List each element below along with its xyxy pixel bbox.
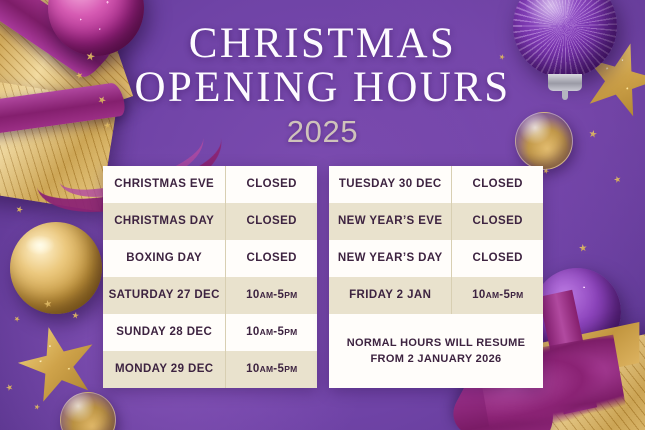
table-cell-day: SUNDAY 28 DEC <box>103 314 226 351</box>
confetti-star-icon <box>13 315 21 323</box>
title-year: 2025 <box>0 114 645 150</box>
table-cell-day: MONDAY 29 DEC <box>103 351 226 388</box>
table-cell-day: NEW YEAR’S DAY <box>329 240 452 277</box>
table-cell-hours: 10AM-5PM <box>226 277 317 314</box>
page-title: CHRISTMAS OPENING HOURS 2025 <box>0 0 645 150</box>
table-cell-hours: CLOSED <box>226 166 317 203</box>
table-row: NEW YEAR’S DAYCLOSED <box>329 240 543 277</box>
christmas-opening-hours-poster: CHRISTMAS OPENING HOURS 2025 CHRISTMAS E… <box>0 0 645 430</box>
note-line-2: FROM 2 JANUARY 2026 <box>371 353 502 366</box>
note-line-1: NORMAL HOURS WILL RESUME <box>347 337 526 350</box>
magenta-ribbon-bottom-right-icon <box>539 290 597 414</box>
confetti-star-icon <box>542 167 550 175</box>
table-row: FRIDAY 2 JAN10AM-5PM <box>329 277 543 314</box>
table-row: CHRISTMAS EVECLOSED <box>103 166 317 203</box>
gold-glitter-star-bottom-left-icon <box>10 317 106 412</box>
table-row: SUNDAY 28 DEC10AM-5PM <box>103 314 317 351</box>
left-hours-table: CHRISTMAS EVECLOSEDCHRISTMAS DAYCLOSEDBO… <box>103 166 317 388</box>
table-cell-hours: CLOSED <box>452 166 543 203</box>
table-cell-hours: CLOSED <box>226 203 317 240</box>
table-cell-hours: 10AM-5PM <box>226 351 317 388</box>
table-cell-hours: 10AM-5PM <box>452 277 543 314</box>
table-cell-day: FRIDAY 2 JAN <box>329 277 452 314</box>
table-cell-day: BOXING DAY <box>103 240 226 277</box>
table-cell-day: SATURDAY 27 DEC <box>103 277 226 314</box>
confetti-star-icon <box>43 299 53 309</box>
title-line-christmas: CHRISTMAS <box>0 22 645 66</box>
table-row: CHRISTMAS DAYCLOSED <box>103 203 317 240</box>
title-line-opening-hours: OPENING HOURS <box>0 66 645 110</box>
table-cell-day: CHRISTMAS EVE <box>103 166 226 203</box>
table-row: NEW YEAR’S EVECLOSED <box>329 203 543 240</box>
confetti-star-icon <box>5 383 14 392</box>
table-cell-hours: CLOSED <box>452 203 543 240</box>
table-cell-hours: CLOSED <box>226 240 317 277</box>
gold-matte-bauble-icon <box>10 222 102 314</box>
table-cell-day: TUESDAY 30 DEC <box>329 166 452 203</box>
opening-hours-tables: CHRISTMAS EVECLOSEDCHRISTMAS DAYCLOSEDBO… <box>103 166 543 388</box>
confetti-star-icon <box>613 175 622 184</box>
right-hours-table: TUESDAY 30 DECCLOSEDNEW YEAR’S EVECLOSED… <box>329 166 543 388</box>
confetti-star-icon <box>72 312 80 320</box>
table-cell-hours: CLOSED <box>452 240 543 277</box>
confetti-star-icon <box>15 205 24 214</box>
table-row: SATURDAY 27 DEC10AM-5PM <box>103 277 317 314</box>
table-row: TUESDAY 30 DECCLOSED <box>329 166 543 203</box>
table-cell-hours: 10AM-5PM <box>226 314 317 351</box>
table-cell-day: CHRISTMAS DAY <box>103 203 226 240</box>
table-cell-day: NEW YEAR’S EVE <box>329 203 452 240</box>
confetti-star-icon <box>579 244 588 253</box>
clear-gold-foil-bauble-bottom-icon <box>60 392 116 430</box>
purple-glitter-bauble-icon <box>533 268 621 356</box>
table-row: MONDAY 29 DEC10AM-5PM <box>103 351 317 388</box>
normal-hours-note: NORMAL HOURS WILL RESUMEFROM 2 JANUARY 2… <box>329 314 543 388</box>
confetti-star-icon <box>33 403 40 410</box>
table-row-note: NORMAL HOURS WILL RESUMEFROM 2 JANUARY 2… <box>329 314 543 388</box>
table-row: BOXING DAYCLOSED <box>103 240 317 277</box>
